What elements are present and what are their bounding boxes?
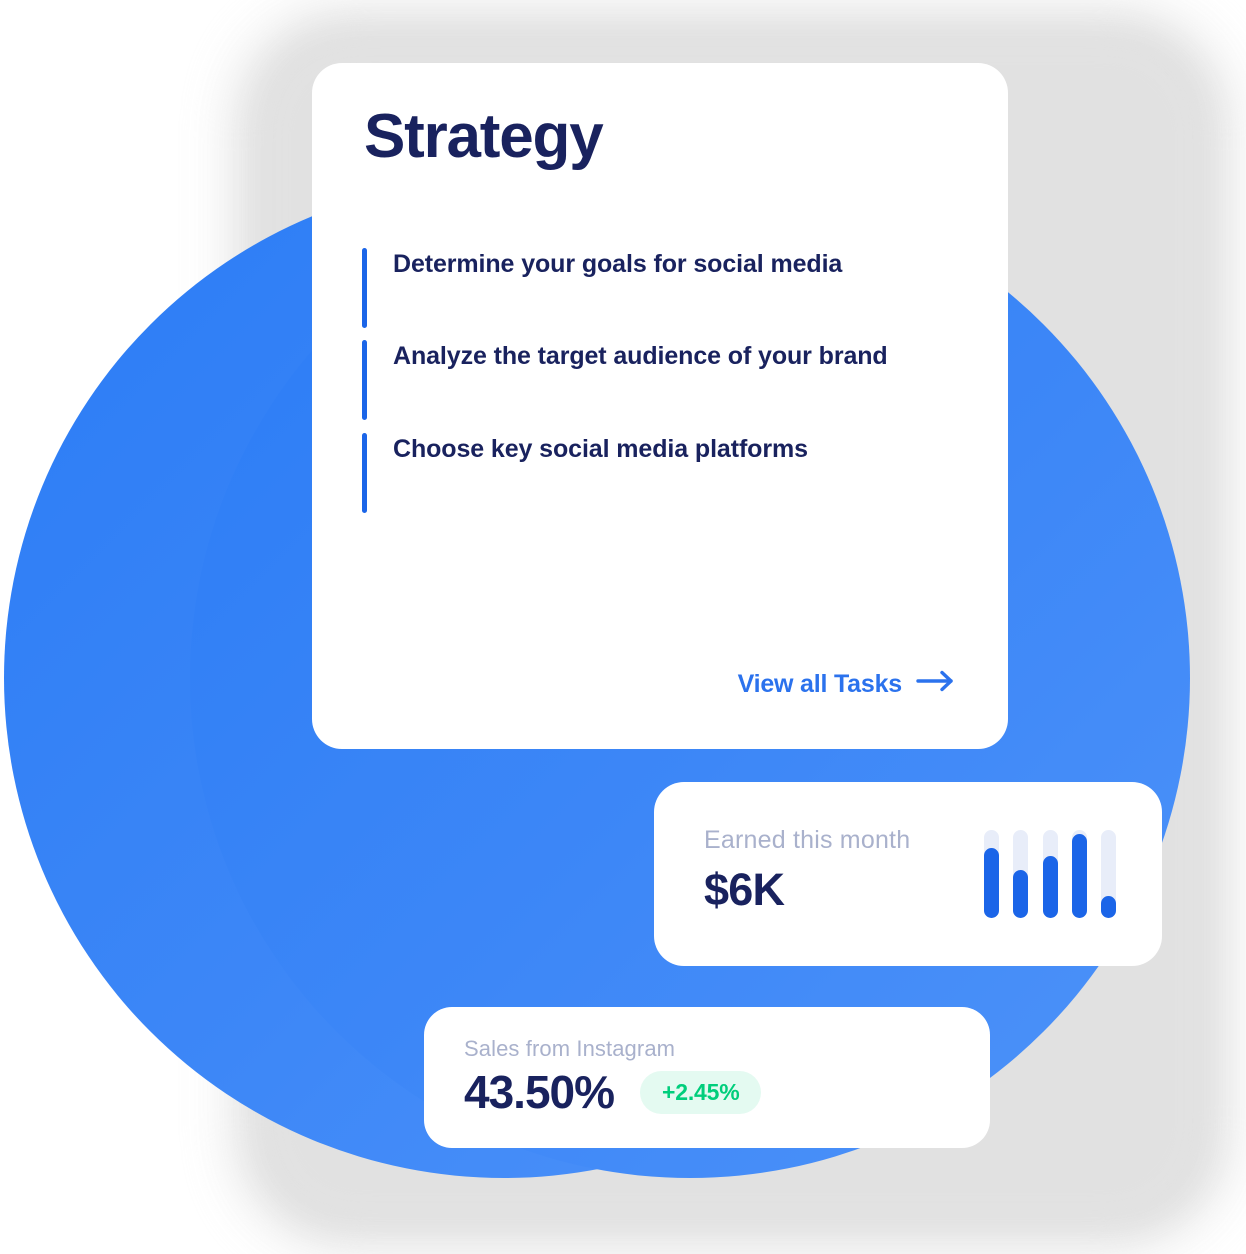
chart-bar-fill [1013, 870, 1028, 918]
chart-bar-track [1072, 830, 1087, 918]
earned-value: $6K [704, 864, 784, 916]
earnings-bar-chart [984, 830, 1116, 918]
sales-value-row: 43.50% +2.45% [464, 1069, 761, 1115]
illustration-stage: Strategy Determine your goals for social… [0, 0, 1246, 1254]
earned-label: Earned this month [704, 826, 910, 855]
strategy-card: Strategy Determine your goals for social… [312, 63, 1008, 749]
chart-bar-track [1101, 830, 1116, 918]
list-item[interactable]: Determine your goals for social media [362, 241, 962, 287]
sales-value: 43.50% [464, 1069, 614, 1115]
arrow-right-icon [916, 670, 956, 699]
chart-bar-track [984, 830, 999, 918]
chart-bar-track [1043, 830, 1058, 918]
sales-from-instagram-card: Sales from Instagram 43.50% +2.45% [424, 1007, 990, 1148]
view-all-tasks-link[interactable]: View all Tasks [738, 670, 956, 699]
task-accent-bar [362, 433, 367, 513]
list-item[interactable]: Choose key social media platforms [362, 426, 962, 472]
chart-bar-fill [984, 848, 999, 918]
chart-bar-track [1013, 830, 1028, 918]
task-list: Determine your goals for social media An… [362, 241, 962, 472]
status-badge: +2.45% [640, 1071, 761, 1114]
task-label: Choose key social media platforms [393, 426, 953, 472]
page-title: Strategy [364, 106, 603, 168]
task-label: Determine your goals for social media [393, 241, 953, 287]
chart-bar-fill [1072, 834, 1087, 918]
chart-bar-fill [1101, 896, 1116, 918]
task-accent-bar [362, 248, 367, 328]
list-item[interactable]: Analyze the target audience of your bran… [362, 333, 962, 379]
chart-bar-fill [1043, 856, 1058, 918]
earned-this-month-card: Earned this month $6K [654, 782, 1162, 966]
sales-label: Sales from Instagram [464, 1036, 675, 1062]
task-accent-bar [362, 340, 367, 420]
task-label: Analyze the target audience of your bran… [393, 333, 953, 379]
view-all-tasks-label: View all Tasks [738, 670, 902, 699]
